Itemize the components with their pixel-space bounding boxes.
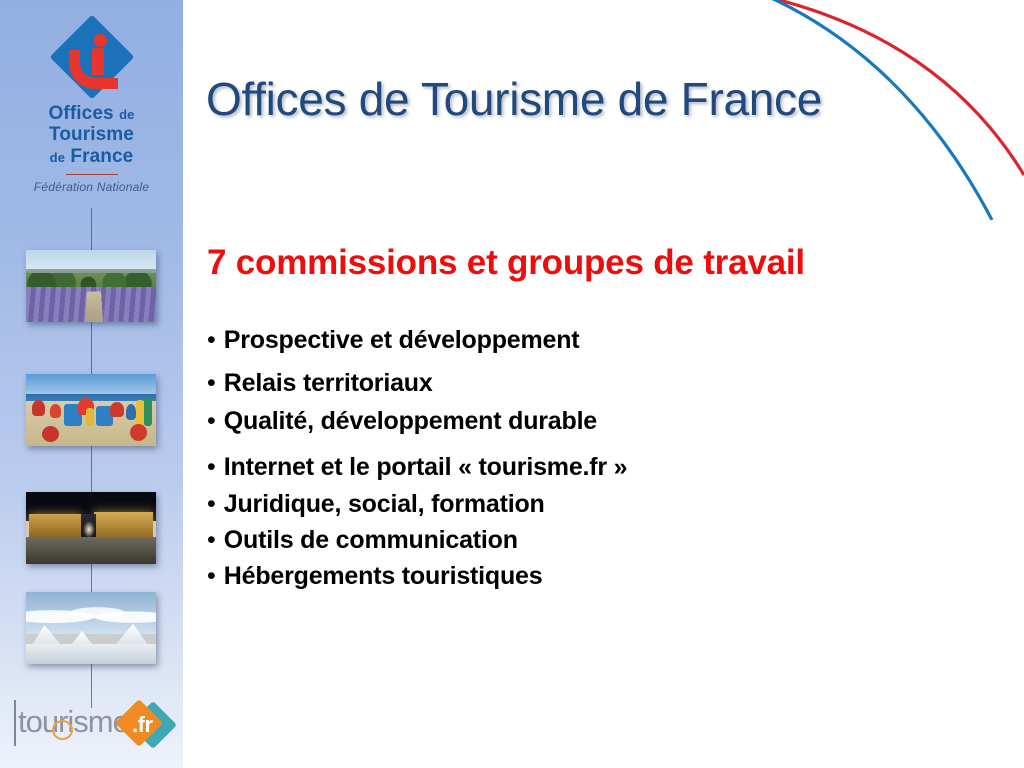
logo-federation-label: Fédération Nationale — [0, 180, 183, 194]
logo-i-dot — [94, 34, 107, 47]
left-sidebar: Offices de Tourisme de France Fédération… — [0, 0, 183, 768]
bullet-dot-icon: • — [207, 455, 216, 480]
diamond-i-icon — [53, 18, 131, 96]
tourisme-logo-word: tourisme — [18, 706, 129, 737]
bullet-dot-icon: • — [207, 564, 216, 589]
list-item-label: Hébergements touristiques — [224, 564, 543, 589]
photo-night-plaza — [26, 492, 156, 564]
logo-line-france: de France — [0, 146, 183, 167]
tourisme-logo-o-ring-icon — [52, 720, 73, 740]
slide-canvas: Offices de Tourisme de France Fédération… — [0, 0, 1024, 768]
tourisme-fr-logo: tourisme .fr — [14, 698, 174, 750]
photo-beach-parasols — [26, 374, 156, 446]
photo-lavender-field — [26, 250, 156, 322]
logo-france-word: France — [70, 146, 133, 167]
list-item: • Qualité, développement durable — [207, 409, 597, 434]
list-item: • Outils de communication — [207, 528, 518, 553]
logo-line-tourisme: Tourisme — [0, 124, 183, 145]
logo-de-word-1: de — [119, 107, 134, 122]
logo-i-stem — [92, 48, 104, 75]
brand-logo: Offices de Tourisme de France Fédération… — [0, 18, 183, 194]
list-item: • Prospective et développement — [207, 328, 579, 353]
photo-snowy-mountains — [26, 592, 156, 664]
page-title: Offices de Tourisme de France — [206, 72, 822, 126]
list-item: • Hébergements touristiques — [207, 564, 542, 589]
logo-divider-rule — [66, 174, 118, 176]
bullet-dot-icon: • — [207, 528, 216, 553]
logo-line-offices: Offices de — [0, 103, 183, 124]
list-item-label: Outils de communication — [224, 528, 518, 553]
list-item: • Relais territoriaux — [207, 371, 433, 396]
logo-de-word-2: de — [50, 150, 65, 165]
tourisme-logo-bar — [14, 700, 16, 746]
logo-offices-word: Offices — [49, 103, 114, 124]
list-item-label: Juridique, social, formation — [224, 492, 545, 517]
list-item-label: Qualité, développement durable — [224, 409, 597, 434]
list-item-label: Internet et le portail « tourisme.fr » — [224, 455, 628, 480]
tourisme-logo-fr-suffix: .fr — [132, 712, 153, 738]
section-heading: 7 commissions et groupes de travail — [207, 243, 805, 283]
bullet-dot-icon: • — [207, 371, 216, 396]
bullet-dot-icon: • — [207, 409, 216, 434]
list-item-label: Prospective et développement — [224, 328, 580, 353]
list-item-label: Relais territoriaux — [224, 371, 433, 396]
list-item: • Internet et le portail « tourisme.fr » — [207, 455, 627, 480]
bullet-dot-icon: • — [207, 328, 216, 353]
list-item: • Juridique, social, formation — [207, 492, 545, 517]
bullet-dot-icon: • — [207, 492, 216, 517]
